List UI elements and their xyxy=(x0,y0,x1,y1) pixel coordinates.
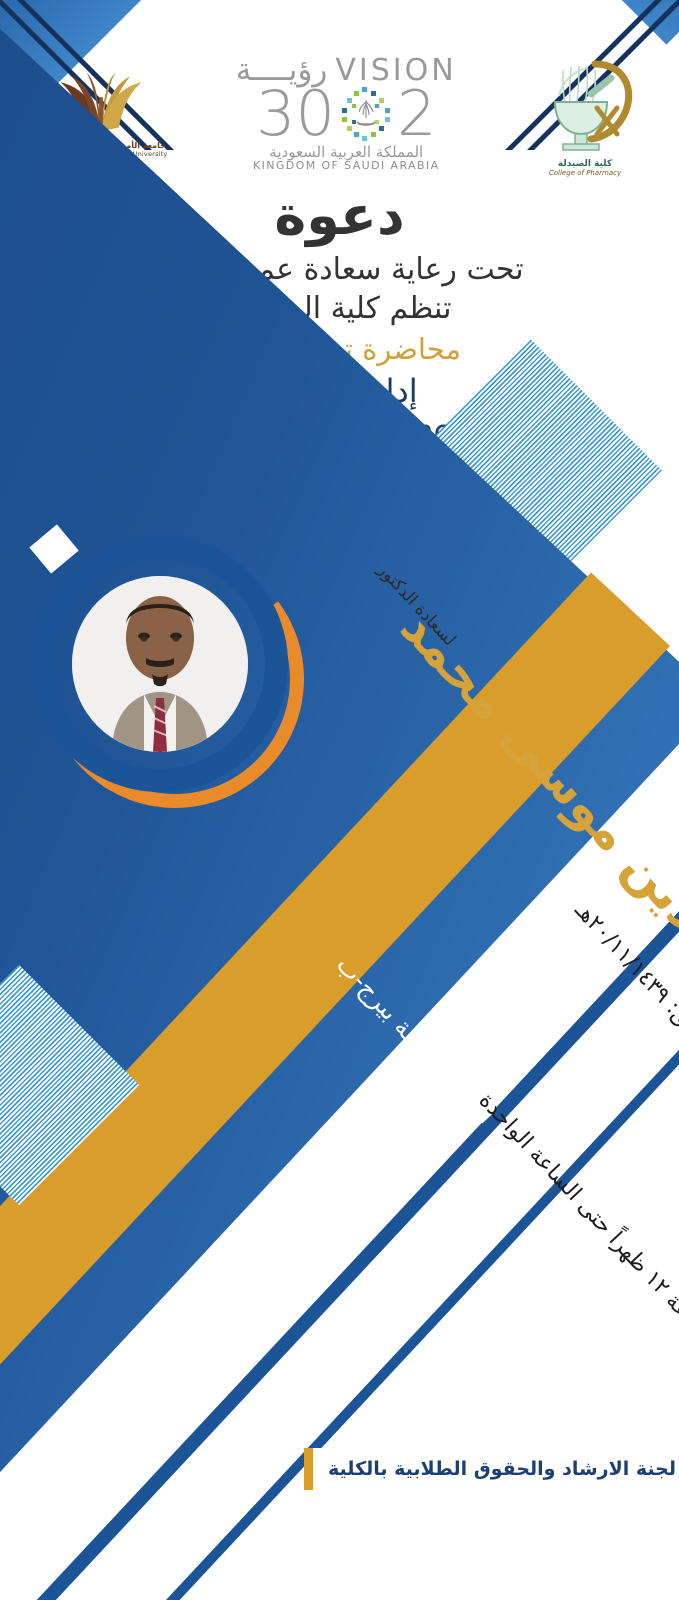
pharmacy-logo-english-label: College of Pharmacy xyxy=(549,169,621,177)
vision-year: 2 xyxy=(256,86,436,142)
vision-latin-word: VISION xyxy=(335,56,456,86)
vision-kingdom-arabic: المملكة العربية السعودية xyxy=(269,145,423,160)
speaker-photo xyxy=(72,576,248,752)
speaker-portrait xyxy=(32,536,288,792)
vision-2030-logo: VISION رؤيــــة 2 xyxy=(236,55,457,171)
college-of-pharmacy-logo: كلية الصيدلة College of Pharmacy xyxy=(525,50,645,177)
invitation-poster: كلية الصيدلة College of Pharmacy VISION … xyxy=(0,0,679,1600)
saudi-palm-mosaic-icon xyxy=(338,86,394,142)
vision-year-left: 2 xyxy=(397,86,436,142)
committee-label: لجنة الارشاد والحقوق الطلابية بالكلية xyxy=(328,1458,676,1480)
vision-year-right: 30 xyxy=(256,86,335,142)
vision-kingdom-english: KINGDOM OF SAUDI ARABIA xyxy=(253,160,440,171)
footer-committee-strip: لجنة الارشاد والحقوق الطلابية بالكلية xyxy=(304,1448,679,1490)
pharmacy-mortar-icon xyxy=(525,50,645,165)
